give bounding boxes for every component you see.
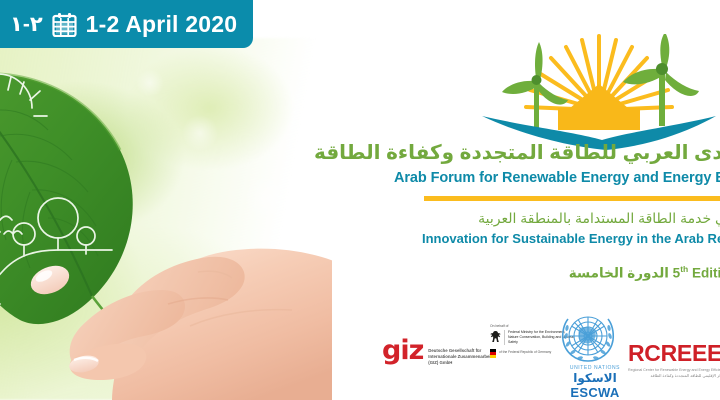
subtitle-english: Innovation for Sustainable Energy in the… (422, 231, 720, 247)
logo-giz: giz Deutsche Gesellschaft für Internatio… (382, 340, 502, 366)
united-nations-emblem-icon (558, 312, 632, 364)
partner-logos: giz Deutsche Gesellschaft für Internatio… (382, 312, 720, 398)
rcreee-english-name: Regional Center for Renewable Energy and… (628, 368, 720, 373)
title-arabic-main: المنتدى العربي للطاقة المتجددة وكفاءة ال… (416, 142, 720, 165)
rcreee-arabic-name: المركز الإقليمي للطاقة المتجددة وكفاءة ا… (628, 373, 720, 378)
calendar-icon (52, 12, 77, 37)
leaf-shape (0, 74, 133, 334)
date-ribbon: ٢-١ 1-2 April 2020 (0, 0, 253, 48)
edition-english-part: 5th Edition - (673, 264, 720, 281)
yellow-divider (424, 196, 720, 201)
logo-escwa: UNITED NATIONS الاسكوا ESCWA (558, 312, 632, 400)
arab-forum-sun-wind-logo (478, 34, 720, 152)
title-english-main: Arab Forum for Renewable Energy and Ener… (394, 170, 720, 187)
rcreee-wordmark: RCREEE (628, 342, 720, 365)
giz-wordmark: giz (382, 340, 423, 362)
logo-rcreee: RCREEE Regional Center for Renewable Ene… (628, 342, 720, 378)
hand-holding-green-leaf (0, 58, 332, 400)
date-english: 1-2 April 2020 (86, 13, 238, 36)
subtitle-arabic: الابتكار في خدمة الطاقة المستدامة بالمنط… (424, 210, 720, 227)
german-eagle-icon (490, 330, 501, 343)
bmu-under-text: of the Federal Republic of Germany (499, 350, 551, 354)
escwa-acronym: ESCWA (558, 386, 632, 400)
edition-word: Edition (692, 266, 720, 281)
escwa-arabic: الاسكوا (558, 372, 632, 385)
edition-arabic: الدورة الخامسة (569, 266, 669, 281)
edition-line: 5th Edition - الدورة الخامسة (394, 264, 720, 282)
event-banner: ٢-١ 1-2 April 2020 المنتدى العربي للطاقة… (0, 0, 720, 400)
edition-ordinal: th (680, 264, 688, 274)
title-block: المنتدى العربي للطاقة المتجددة وكفاءة ال… (380, 142, 720, 282)
date-arabic: ٢-١ (10, 14, 43, 35)
german-flag-icon (490, 349, 496, 358)
